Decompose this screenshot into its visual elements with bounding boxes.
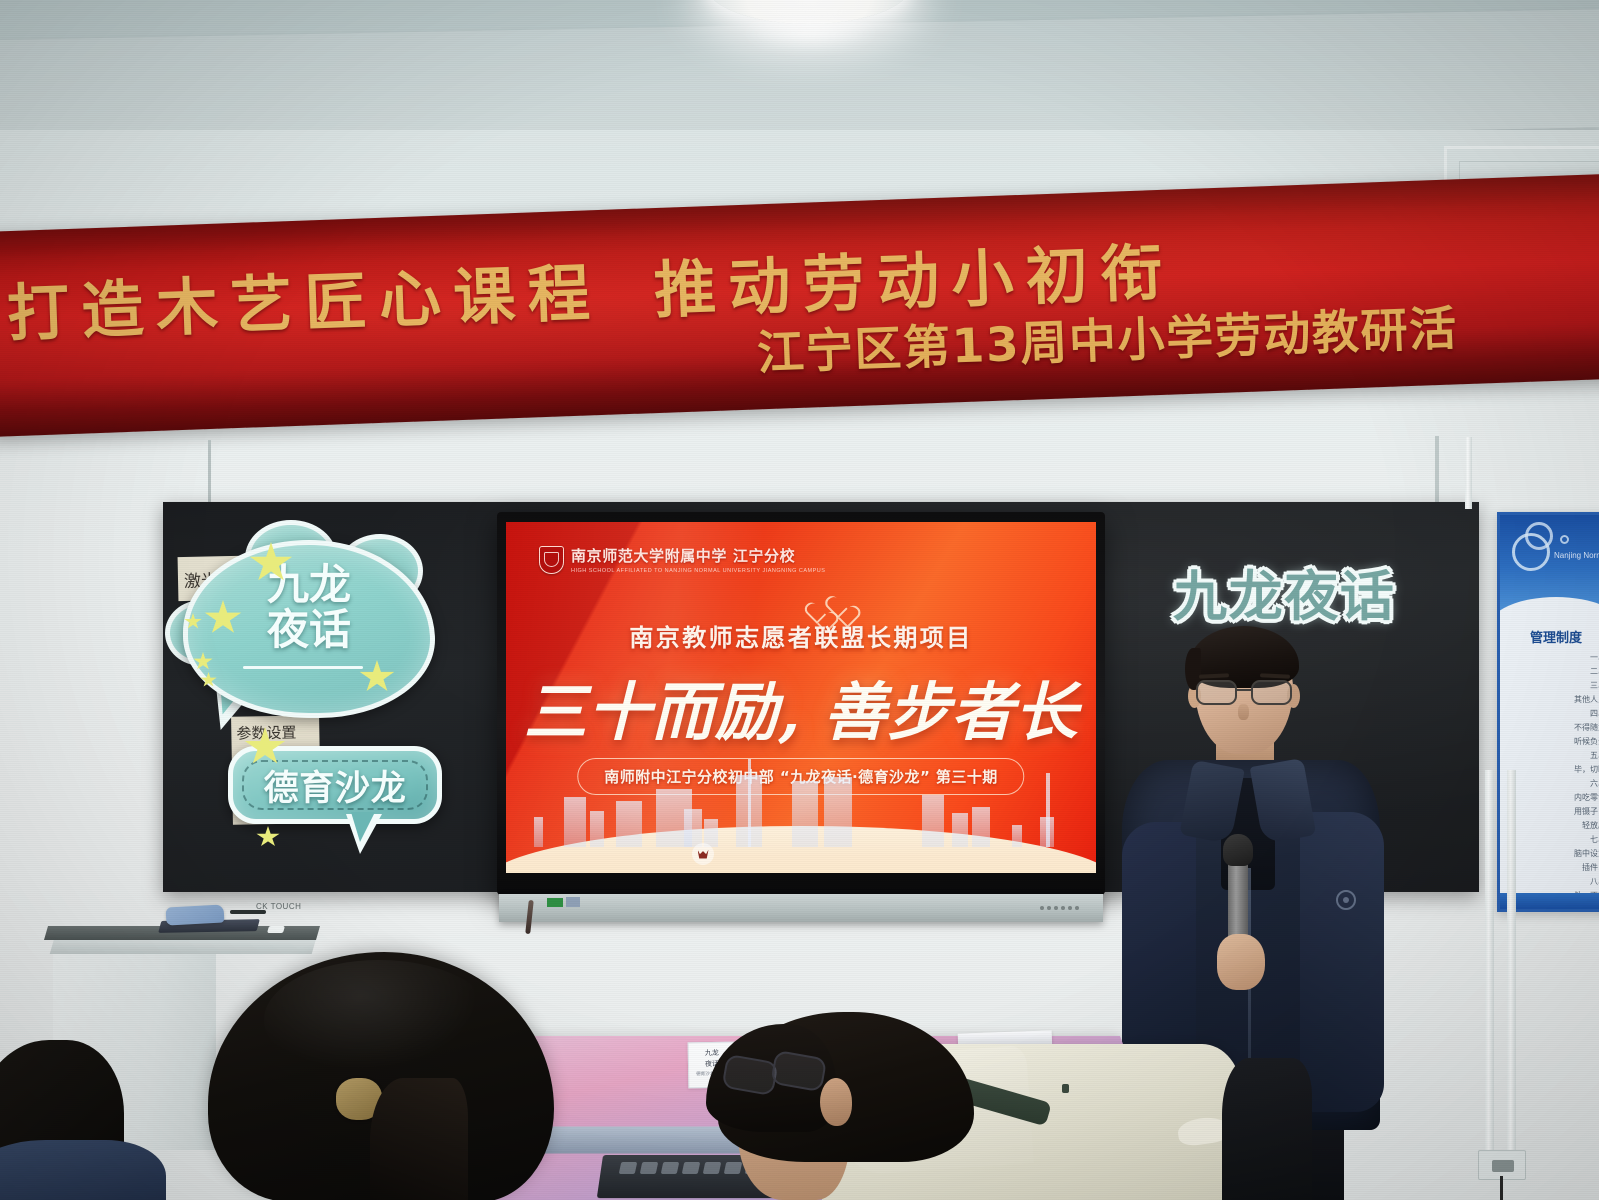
poster-rule-line: 四、	[1506, 707, 1599, 721]
poster-logo-icon	[1512, 533, 1550, 571]
poster-rule-line: 不得随意	[1506, 721, 1599, 735]
poster-rule-line: 听候负责	[1506, 735, 1599, 749]
cloud-underline	[243, 666, 363, 669]
cable-conduit	[1485, 770, 1494, 1150]
poster-rule-line: 毕，切断	[1506, 763, 1599, 777]
green-sticker	[547, 898, 563, 907]
blue-cloth	[166, 904, 225, 925]
classroom-scene: 打造木艺匠心课程推动劳动小初衔 江宁区第13周中小学劳动教研活 激光切 参数设置…	[0, 0, 1599, 1200]
slide-main-title: 三十而励, 善步者长	[506, 662, 1096, 753]
poster-logo-dot-icon	[1560, 535, 1569, 544]
bubble-tail-fill	[351, 812, 375, 842]
poster-rule-line: 三、	[1506, 679, 1599, 693]
hair-ponytail	[370, 1078, 468, 1200]
poster-rule-line: 内吃零食	[1506, 791, 1599, 805]
right-wall-sign-jiulong: 九龙夜话	[1173, 552, 1413, 614]
power-cord	[1500, 1176, 1503, 1200]
cable-conduit	[1507, 770, 1516, 1150]
display-bottom-bezel	[499, 894, 1103, 922]
display-screen: 南京师范大学附属中学 江宁分校 HIGH SCHOOL AFFILIATED T…	[506, 522, 1096, 873]
slide-header-text: 南京教师志愿者联盟长期项目	[506, 618, 1096, 653]
board-hanger-right	[1435, 436, 1439, 502]
slide-background: 南京师范大学附属中学 江宁分校 HIGH SCHOOL AFFILIATED T…	[506, 522, 1096, 873]
bubble-sign-label: 德育沙龙	[228, 760, 442, 811]
glasses-lens-right	[1251, 680, 1292, 705]
glasses-icon	[1193, 680, 1297, 705]
small-white-object	[267, 926, 285, 933]
poster-rule-line: 六、	[1506, 777, 1599, 791]
audience-glasses-lens-left	[721, 1054, 778, 1097]
heart-icon	[826, 597, 849, 618]
poster-rule-line: 八、	[1506, 875, 1599, 889]
presentation-display[interactable]: 南京师范大学附属中学 江宁分校 HIGH SCHOOL AFFILIATED T…	[497, 512, 1105, 895]
poster-rule-line: 七、	[1506, 833, 1599, 847]
poster-rule-line: 用镊子，	[1506, 805, 1599, 819]
audience-far-left-shoulder	[0, 1140, 166, 1200]
cloud-label-line1: 九龙	[183, 562, 435, 607]
display-control-dots[interactable]	[1040, 906, 1079, 910]
light-glow	[740, 8, 880, 52]
poster-rule-line: 其他人员	[1506, 693, 1599, 707]
slide-watermark-icon	[692, 843, 714, 865]
poster-rule-line: 轻放。	[1506, 819, 1599, 833]
audience-person-far-right	[1222, 1058, 1312, 1200]
jacket-logo-icon	[1336, 890, 1356, 910]
audience-man-glasses-icon	[724, 1058, 830, 1100]
cable-conduit	[1465, 437, 1472, 509]
logo-chinese-name: 南京师范大学附属中学 江宁分校	[571, 545, 825, 566]
presenter-arm-right	[1300, 812, 1384, 1112]
board-hanger-left	[208, 440, 211, 504]
presenter-hand-holding-mic	[1217, 934, 1265, 990]
slide-school-logo: 南京师范大学附属中学 江宁分校 HIGH SCHOOL AFFILIATED T…	[539, 545, 825, 574]
microphone-icon	[1223, 834, 1253, 866]
presenter-hair	[1189, 626, 1299, 688]
shield-icon	[539, 546, 564, 574]
poster-rule-line: 脑中设置	[1506, 847, 1599, 861]
glasses-lens-left	[1196, 680, 1237, 705]
city-skyline-graphic	[506, 759, 1096, 847]
poster-rule-line: 五、	[1506, 749, 1599, 763]
shelf-face	[50, 938, 317, 954]
crown-icon	[698, 850, 709, 859]
cloud-sign-jiulong: 九龙 夜话	[183, 540, 435, 718]
poster-rule-line: 一、	[1506, 651, 1599, 665]
presenter-nose	[1238, 704, 1249, 720]
poster-rule-line: 插件，	[1506, 861, 1599, 875]
blue-sticker	[566, 897, 580, 907]
poster-rule-lines: 一、二、三、其他人员四、不得随意听候负责五、毕，切断六、内吃零食用镊子，轻放。七…	[1506, 651, 1599, 912]
audience-man-collar-button	[1062, 1084, 1069, 1093]
poster-title: 管理制度	[1500, 627, 1599, 646]
display-brand-label: CK TOUCH	[256, 902, 301, 911]
poster-rule-line: 二、	[1506, 665, 1599, 679]
logo-english-name: HIGH SCHOOL AFFILIATED TO NANJING NORMAL…	[571, 568, 825, 574]
glasses-bridge	[1237, 689, 1251, 691]
poster-header-text: Nanjing Normal University Affiliated Hig…	[1554, 551, 1599, 560]
